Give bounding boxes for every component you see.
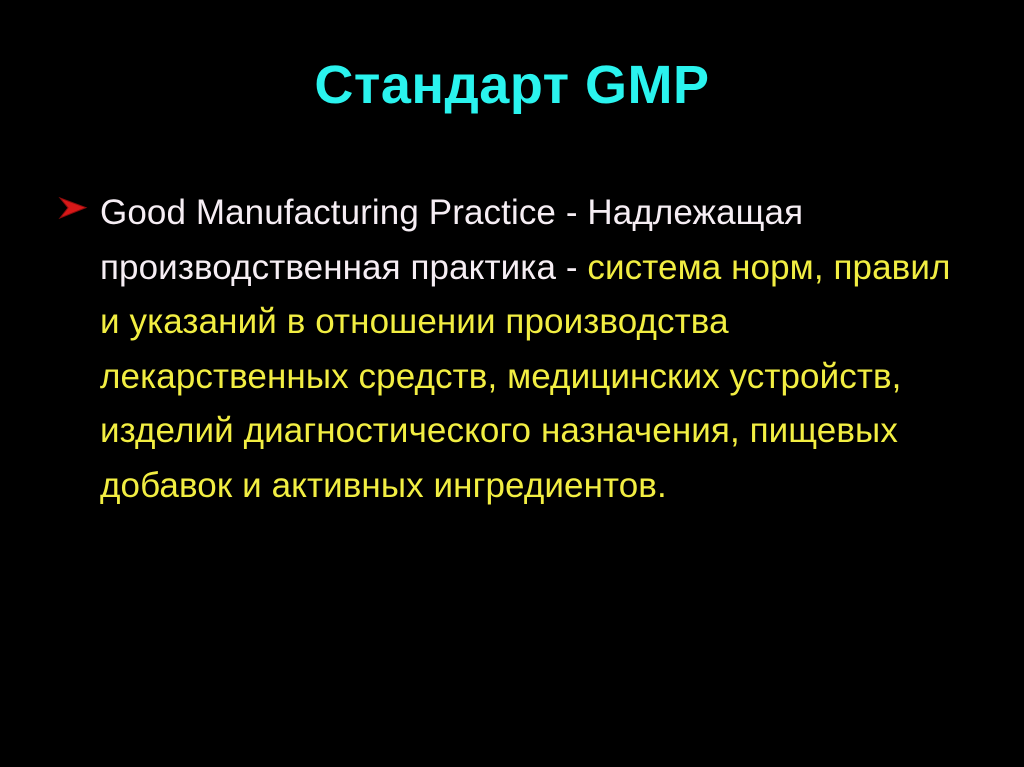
presentation-slide: Стандарт GMP Good Manufacturing Practice… [0,0,1024,767]
body-content: Good Manufacturing Practice - Надлежащая… [57,186,957,513]
list-item: Good Manufacturing Practice - Надлежащая… [57,186,957,513]
red-arrow-bullet-icon [57,186,100,222]
bullet-paragraph: Good Manufacturing Practice - Надлежащая… [100,186,957,513]
page-title: Стандарт GMP [0,56,1024,114]
